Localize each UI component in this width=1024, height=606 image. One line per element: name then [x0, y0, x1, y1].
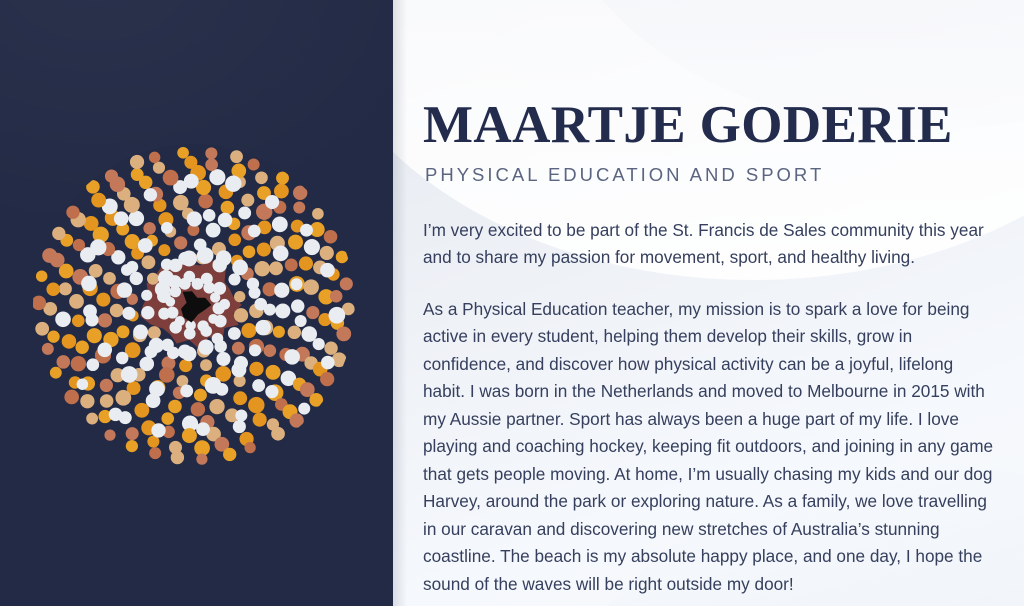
profile-role-subtitle: PHYSICAL EDUCATION AND SPORT [425, 164, 1000, 186]
artwork-core-white-dot [197, 320, 208, 331]
artwork-dot [209, 169, 225, 185]
artwork-spiral-dot [284, 349, 300, 365]
artwork-spiral-dot [231, 362, 246, 377]
artwork-dot [309, 393, 323, 407]
artwork-dot [209, 399, 224, 414]
artwork-dot [248, 158, 260, 170]
artwork-core-white-dot [166, 307, 178, 319]
dot-field [33, 144, 355, 466]
artwork-dot [86, 180, 100, 194]
artwork-spiral-dot [298, 403, 310, 415]
artwork-dot [194, 389, 207, 402]
artwork-dot [243, 245, 256, 258]
artwork-spiral-dot [133, 325, 148, 340]
artwork-dot [340, 277, 353, 290]
artwork-spiral-dot [114, 211, 129, 226]
artwork-dot [336, 326, 351, 341]
artwork-dot [129, 211, 145, 227]
artwork-dot [147, 273, 159, 285]
artwork-dot [291, 299, 304, 312]
artwork-dot [96, 293, 110, 307]
artwork-dot [221, 201, 235, 215]
artwork-spiral-dot [216, 250, 232, 266]
artwork-dot [126, 427, 139, 440]
artwork-spiral-dot [197, 247, 214, 264]
artwork-dot [36, 270, 47, 281]
artwork-dot [87, 358, 100, 371]
artwork-dot [47, 331, 59, 343]
artwork-dot [203, 209, 216, 222]
artwork-dot [271, 427, 285, 441]
artwork-spiral-dot [265, 195, 279, 209]
artwork-dot [103, 272, 116, 285]
artwork-spiral-dot [320, 263, 335, 278]
artwork-dot [233, 420, 246, 433]
artwork-dot [205, 158, 218, 171]
bio-paragraph: As a Physical Education teacher, my miss… [423, 296, 1000, 599]
artwork-dot [228, 273, 240, 285]
artwork-spiral-dot [196, 422, 210, 436]
artwork-dot [125, 234, 140, 249]
artwork-dot [233, 391, 247, 405]
artwork-dot [142, 255, 156, 269]
artwork-dot [71, 356, 86, 371]
artwork-spiral-dot [126, 261, 138, 273]
artwork-dot [141, 290, 152, 301]
artwork-spiral-dot [247, 278, 259, 290]
artwork-dot [42, 248, 57, 263]
artwork-dot [105, 169, 118, 182]
artwork-core-white-dot [175, 316, 185, 326]
artwork-dot [288, 326, 301, 339]
artwork-dot [35, 322, 49, 336]
artwork-dot [253, 413, 267, 427]
artwork-dot [131, 168, 144, 181]
bio-panel: MAARTJE GODERIE PHYSICAL EDUCATION AND S… [393, 0, 1024, 606]
artwork-spiral-dot [161, 222, 173, 234]
artwork-spiral-dot [97, 343, 112, 358]
artwork-spiral-dot [81, 276, 97, 292]
artwork-dot [182, 428, 197, 443]
artwork-dot [273, 326, 285, 338]
profile-card: MAARTJE GODERIE PHYSICAL EDUCATION AND S… [0, 0, 1024, 606]
artwork-dot [312, 208, 324, 220]
artwork-dot [184, 156, 197, 169]
artwork-dot [320, 372, 334, 386]
artwork-dot [134, 403, 149, 418]
artwork-spiral-dot [321, 356, 335, 370]
artwork-dot [269, 261, 283, 275]
artwork-dot [115, 390, 131, 406]
artwork-dot [206, 223, 221, 238]
artwork-dot [276, 172, 289, 185]
artwork-spiral-dot [300, 224, 313, 237]
artwork-core-white-dot [203, 282, 215, 294]
artwork-dot [153, 162, 165, 174]
artwork-dot [66, 206, 79, 219]
artwork-dot [324, 342, 337, 355]
artwork-dot [216, 352, 230, 366]
profile-bio: I’m very excited to be part of the St. F… [423, 217, 1000, 599]
artwork-dot [229, 234, 242, 247]
artwork-dot [249, 362, 263, 376]
artwork-spiral-dot [138, 238, 153, 253]
artwork-dot [288, 235, 303, 250]
artwork-spiral-dot [122, 307, 135, 320]
artwork-dot [205, 147, 217, 159]
artwork-spiral-dot [149, 338, 164, 353]
artwork-dot [91, 193, 106, 208]
artwork-dot [228, 327, 241, 340]
artwork-dot [87, 328, 102, 343]
artwork-dot [266, 365, 281, 380]
artwork-spiral-dot [169, 259, 183, 273]
artwork-dot [232, 342, 245, 355]
artwork-spiral-dot [180, 385, 193, 398]
artwork-dot [293, 186, 307, 200]
artwork-dot [293, 201, 305, 213]
artwork-spiral-dot [248, 225, 261, 238]
artwork-panel [0, 0, 393, 606]
artwork-dot [290, 413, 304, 427]
artwork-spiral-dot [295, 315, 307, 327]
artwork-dot [100, 394, 114, 408]
artwork-dot [191, 402, 205, 416]
artwork-dot [75, 341, 88, 354]
artwork-dot [241, 194, 254, 207]
artwork-spiral-dot [117, 282, 132, 297]
artwork-dot [143, 222, 155, 234]
artwork-dot [320, 246, 334, 260]
artwork-dot [59, 282, 72, 295]
artwork-dot [57, 355, 71, 369]
artwork-dot [248, 397, 264, 413]
artwork-dot [84, 216, 99, 231]
artwork-dot [272, 216, 288, 232]
artwork-dot [255, 171, 268, 184]
artwork-spiral-dot [109, 408, 123, 422]
artwork-dot [98, 313, 112, 327]
artwork-core-white-dot [210, 292, 220, 302]
artwork-spiral-dot [151, 423, 165, 437]
artwork-dot [130, 155, 144, 169]
artwork-dot [100, 379, 113, 392]
artwork-spiral-dot [254, 298, 267, 311]
artwork-dot [173, 195, 189, 211]
artwork-dot [324, 230, 338, 244]
artwork-dot [254, 261, 269, 276]
artwork-spiral-dot [144, 188, 157, 201]
artwork-core-white-dot [208, 314, 218, 324]
artwork-dot [313, 338, 325, 350]
artwork-spiral-dot [232, 260, 248, 276]
artwork-spiral-dot [86, 313, 99, 326]
artwork-dot [69, 294, 84, 309]
artwork-dot [238, 207, 251, 220]
artwork-dot [274, 184, 289, 199]
artwork-dot [159, 367, 175, 383]
artwork-dot [46, 282, 60, 296]
artwork-dot [230, 150, 243, 163]
artwork-dot [149, 152, 160, 163]
artwork-core-white-dot [165, 297, 175, 307]
artwork-dot [64, 390, 79, 405]
artwork-dot [198, 194, 213, 209]
artwork-dot [194, 440, 210, 456]
artwork-dot [336, 251, 349, 264]
artwork-dot [55, 311, 71, 327]
artwork-dot [196, 454, 207, 465]
artwork-dot [86, 413, 98, 425]
artwork-spiral-dot [149, 381, 165, 397]
artwork-spiral-dot [212, 333, 224, 345]
artwork-dot [174, 236, 187, 249]
artwork-core-white-dot [192, 278, 204, 290]
artwork-dot [50, 367, 62, 379]
artwork-dot [171, 451, 184, 464]
artwork-dot [161, 412, 174, 425]
artwork-spiral-dot [235, 409, 247, 421]
artwork-spiral-dot [198, 339, 213, 354]
artwork-spiral-dot [184, 174, 199, 189]
artwork-spiral-dot [181, 251, 197, 267]
artwork-core-white-dot [213, 302, 225, 314]
artwork-spiral-dot [182, 347, 197, 362]
artwork-spiral-dot [249, 344, 261, 356]
artwork-dot [330, 290, 343, 303]
artwork-dot [104, 430, 115, 441]
artwork-spiral-dot [205, 377, 222, 394]
panel-inner-shadow [393, 0, 407, 606]
artwork-dot [42, 343, 54, 355]
artwork-dot [158, 244, 170, 256]
artwork-dot [89, 264, 103, 278]
artwork-spiral-dot [225, 176, 241, 192]
artwork-spiral-dot [265, 385, 278, 398]
artwork-spiral-dot [218, 213, 233, 228]
artwork-core-white-dot [179, 278, 191, 290]
artwork-spiral-dot [187, 211, 202, 226]
artwork-spiral-dot [290, 278, 302, 290]
artwork-dot [299, 256, 313, 270]
artwork-dot [130, 272, 143, 285]
page-title: MAARTJE GODERIE [423, 98, 1000, 154]
artwork-dot [304, 239, 320, 255]
artwork-dot [257, 242, 271, 256]
artwork-dot [241, 323, 256, 338]
artwork-dot [117, 325, 130, 338]
artwork-dot [110, 304, 124, 318]
profile-content: MAARTJE GODERIE PHYSICAL EDUCATION AND S… [423, 98, 1000, 598]
artwork-dot [116, 352, 128, 365]
artwork-spiral-dot [158, 270, 174, 286]
artwork-dot [200, 359, 212, 371]
artwork-dot [72, 315, 85, 328]
artwork-dot [285, 259, 298, 272]
artwork-dot [303, 279, 319, 295]
artwork-dot [252, 379, 265, 392]
artwork-spiral-dot [90, 239, 106, 255]
artwork-dot [223, 448, 236, 461]
artwork-spiral-dot [167, 347, 179, 359]
artwork-spiral-dot [121, 366, 138, 383]
artwork-dot [275, 303, 290, 318]
artwork-dot [141, 306, 154, 319]
artwork-dot [177, 147, 189, 159]
artwork-dot [163, 170, 179, 186]
artwork-dot [234, 291, 245, 302]
artwork-dot [149, 447, 161, 459]
artwork-dot [73, 239, 85, 251]
artwork-dot [62, 334, 77, 349]
artwork-dot [148, 326, 161, 339]
artwork-spiral-dot [77, 378, 89, 390]
artwork-spiral-dot [255, 320, 270, 335]
bio-paragraph: I’m very excited to be part of the St. F… [423, 217, 1000, 272]
artwork-spiral-dot [273, 246, 289, 262]
aboriginal-dot-circle-artwork [33, 144, 355, 466]
artwork-dot [52, 227, 65, 240]
artwork-dot [264, 344, 277, 357]
artwork-dot [80, 394, 94, 408]
artwork-dot [126, 440, 138, 452]
artwork-dot [168, 400, 182, 414]
artwork-dot [244, 442, 255, 453]
artwork-dot [274, 283, 289, 298]
artwork-spiral-dot [328, 307, 345, 324]
artwork-core-white-dot [170, 286, 181, 297]
artwork-dot [306, 306, 319, 319]
artwork-dot [234, 308, 248, 322]
dot-painting-svg [33, 144, 355, 466]
